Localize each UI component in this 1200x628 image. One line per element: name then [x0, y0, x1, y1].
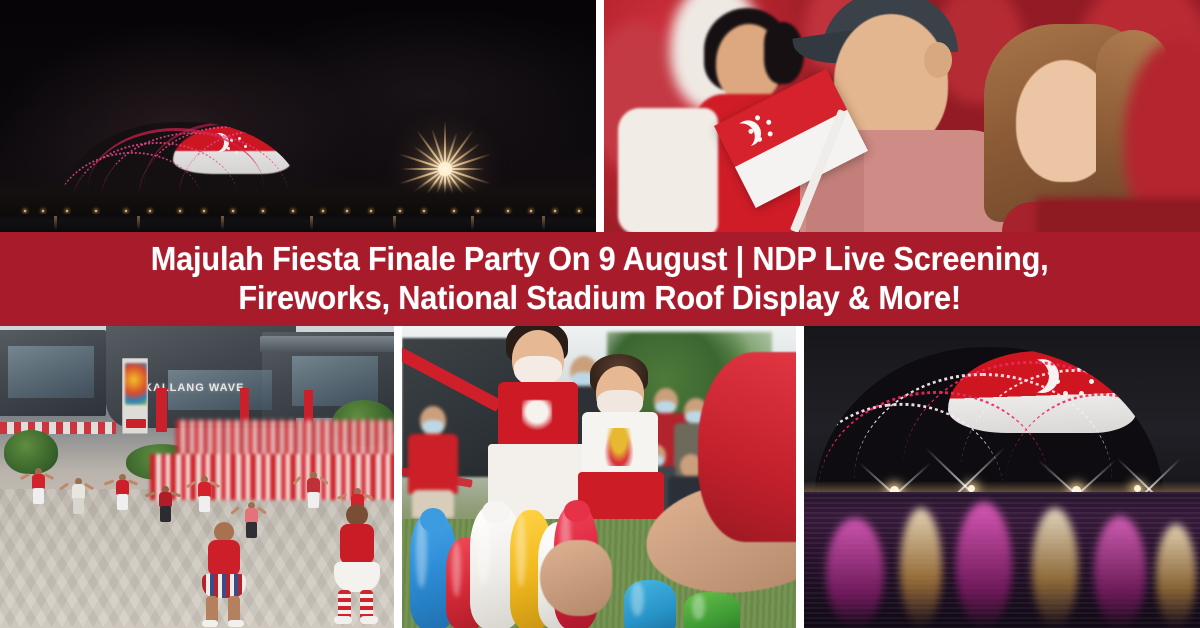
mall-walkway-bridge — [260, 336, 394, 352]
bowling-pin-white-neck — [482, 500, 510, 524]
bowling-pin-teal — [624, 580, 676, 628]
dancer — [192, 476, 216, 520]
background-spectator — [1036, 198, 1200, 232]
photo-children-bowling-carnival-games — [402, 326, 796, 628]
firework-burst — [444, 168, 446, 170]
event-poster: Majulah Fiesta Finale Party On 9 August … — [0, 0, 1200, 628]
red-vertical-banner — [304, 390, 313, 424]
foreground-red-sleeve — [698, 352, 796, 542]
photo-stadium-roof-display-reflection — [804, 326, 1200, 628]
title-banner: Majulah Fiesta Finale Party On 9 August … — [0, 232, 1200, 326]
photo-crowd-spectators-singapore-flag — [604, 0, 1200, 232]
photo-mass-dance-kallang-wave: KALLANG WAVE KALLANG WAVE — [0, 326, 394, 628]
dancer — [66, 478, 90, 520]
red-vertical-banner — [240, 388, 249, 422]
bowling-pin-blue-neck — [420, 508, 446, 532]
lens-flare — [1148, 487, 1150, 489]
event-banner-pole — [122, 358, 148, 434]
water-reflection — [1156, 524, 1196, 628]
dancer — [300, 472, 326, 522]
bay-water — [0, 214, 596, 232]
dancer — [110, 474, 134, 516]
background-spectator — [406, 406, 460, 516]
dancer — [26, 468, 50, 508]
city-lights — [0, 196, 596, 212]
water-reflection — [1032, 508, 1078, 628]
bowling-pin-crimson-neck — [564, 500, 590, 522]
dancer — [152, 486, 178, 534]
red-vertical-banner — [156, 388, 167, 432]
dancer-foreground — [330, 504, 384, 626]
dancer-foreground — [200, 522, 248, 626]
shirt-graphic — [522, 400, 552, 434]
water-reflection — [826, 518, 884, 628]
water-reflection — [900, 508, 942, 628]
photo-national-stadium-fireworks-night — [0, 0, 596, 232]
bowling-pin-green — [684, 592, 740, 628]
water-reflection — [956, 502, 1012, 628]
page-title: Majulah Fiesta Finale Party On 9 August … — [151, 240, 1049, 317]
mall-glass-panel — [8, 346, 94, 398]
lens-flare — [964, 484, 966, 486]
held-tissue-packet — [618, 108, 718, 232]
shirt-graphic-doll — [604, 428, 634, 466]
foreground-hand — [540, 540, 612, 616]
water-reflection — [1094, 516, 1146, 628]
